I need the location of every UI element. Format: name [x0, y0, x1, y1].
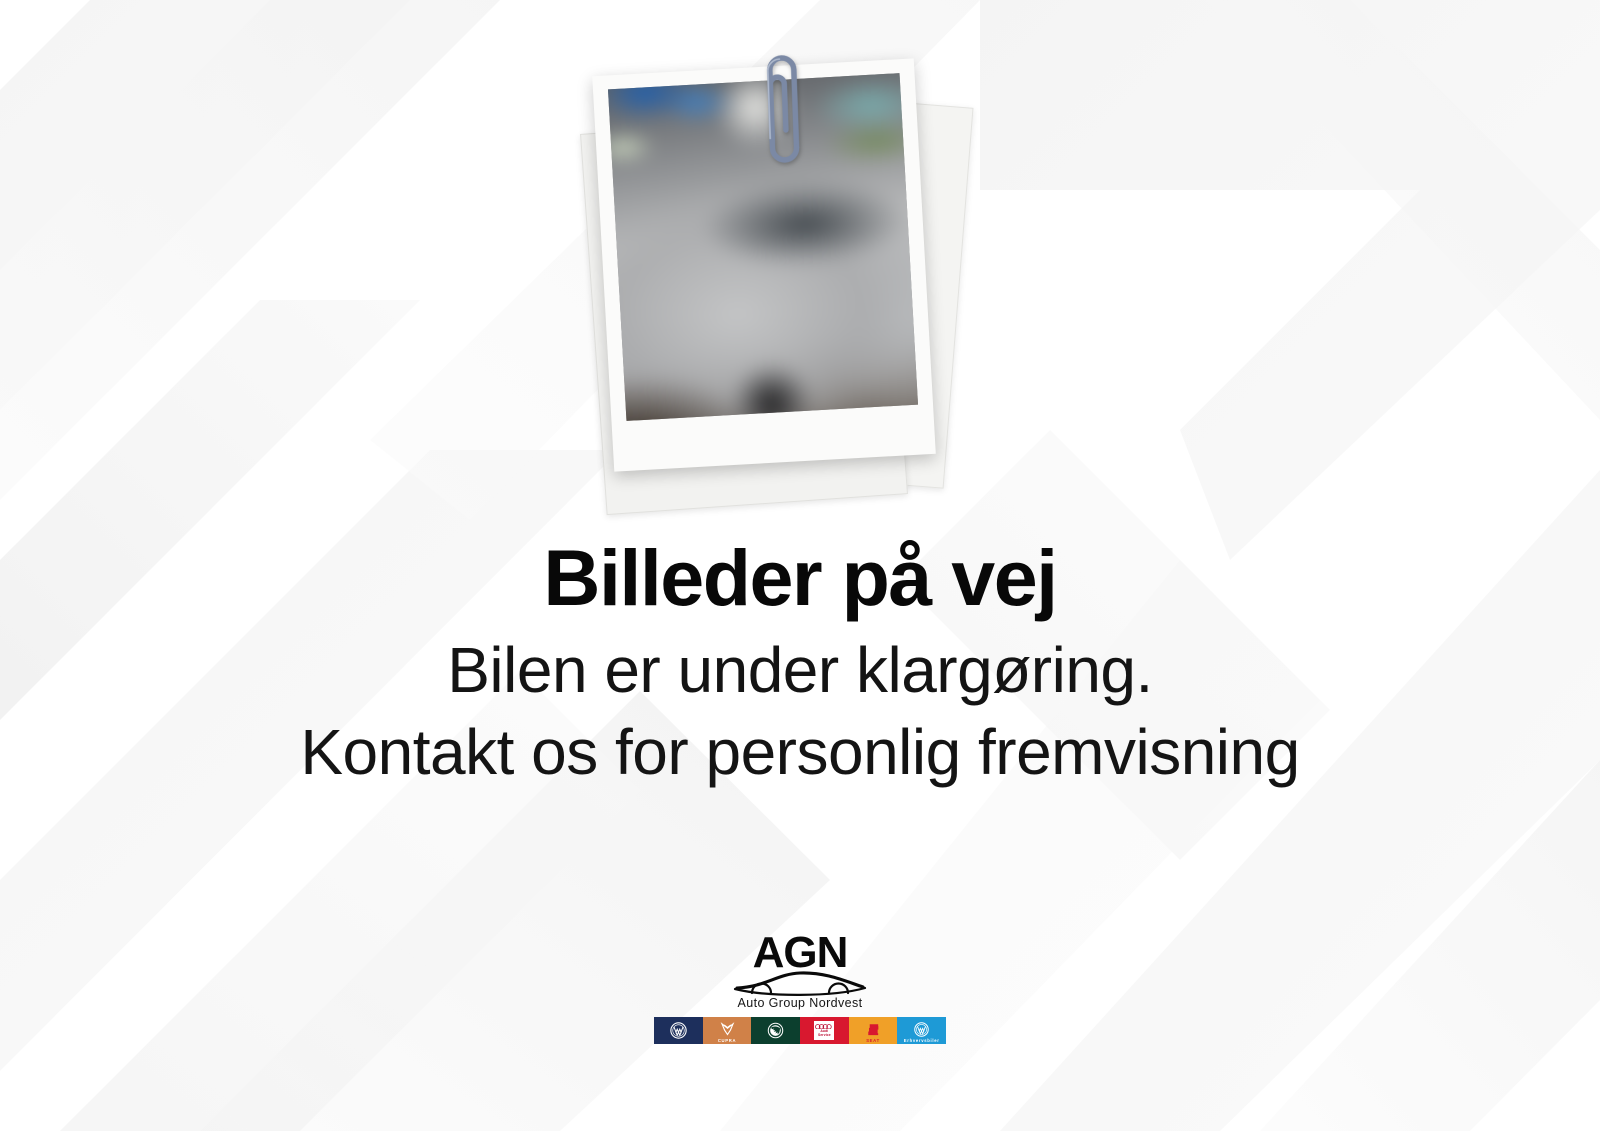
agn-wordmark: AGN	[753, 928, 848, 977]
promo-placeholder-card: Billeder på vej Bilen er under klargørin…	[0, 0, 1600, 1131]
volkswagen-commercial-icon	[914, 1022, 929, 1037]
headline: Billeder på vej	[0, 535, 1600, 620]
agn-tagline: Auto Group Nordvest	[737, 996, 862, 1010]
subline-1: Bilen er under klargøring.	[0, 630, 1600, 712]
cupra-icon	[720, 1022, 735, 1036]
brand-tile-volkswagen[interactable]	[654, 1017, 703, 1044]
message-block: Billeder på vej Bilen er under klargørin…	[0, 535, 1600, 794]
dealer-logo-area: AGN Auto Group Nordvest	[0, 925, 1600, 1044]
subline-2: Kontakt os for personlig fremvisning	[0, 712, 1600, 794]
brand-tile-cupra[interactable]: CUPRA	[703, 1017, 752, 1044]
audi-service-text: Audi Service	[814, 1030, 834, 1037]
vw-commercial-wordmark: Erhvervsbiler	[897, 1039, 946, 1043]
brand-tile-audi[interactable]: Audi Service	[800, 1017, 849, 1044]
volkswagen-icon	[670, 1022, 687, 1039]
brand-tile-vw-erhvervsbiler[interactable]: Erhvervsbiler	[897, 1017, 946, 1044]
skoda-icon	[767, 1022, 784, 1039]
brand-tile-skoda[interactable]	[751, 1017, 800, 1044]
brand-tile-seat[interactable]: SEAT	[849, 1017, 898, 1044]
paperclip-icon	[754, 43, 812, 165]
cupra-wordmark: CUPRA	[703, 1039, 752, 1043]
agn-logo: AGN Auto Group Nordvest	[705, 925, 895, 1010]
seat-icon	[867, 1023, 880, 1036]
audi-service-badge: Audi Service	[814, 1021, 834, 1040]
seat-wordmark: SEAT	[849, 1039, 898, 1043]
brand-logo-strip: CUPRA	[654, 1017, 946, 1044]
photo-placeholder-stack	[575, 55, 990, 515]
